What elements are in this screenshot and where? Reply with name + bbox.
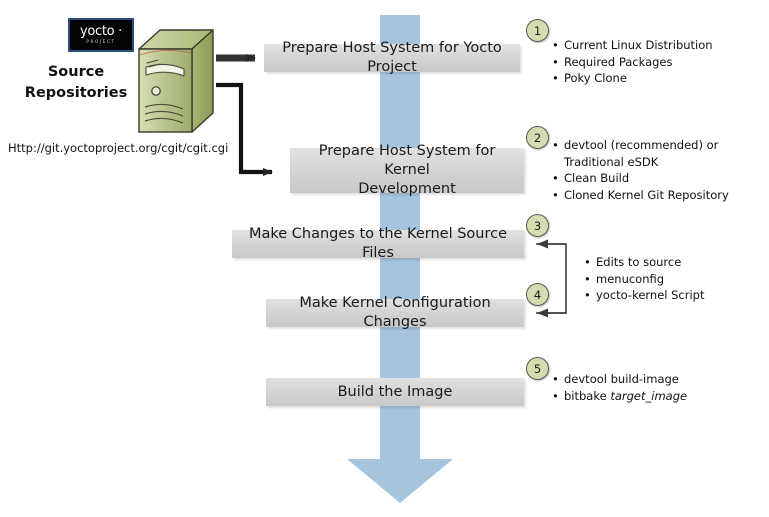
process-box-prepare-host-kernel[interactable]: Prepare Host System for Kernel Developme…	[290, 148, 524, 193]
list-item: menuconfig	[584, 271, 705, 288]
steps-3-4-shared-bullets: Edits to source menuconfig yocto-kernel …	[584, 254, 705, 304]
list-item-line1: devtool (recommended) or	[564, 137, 729, 154]
list-item: Current Linux Distribution	[552, 37, 713, 54]
box2-line1: Prepare Host System for Kernel	[298, 142, 516, 180]
list-item: Cloned Kernel Git Repository	[552, 187, 729, 204]
workflow-down-arrow	[345, 437, 455, 505]
step-5-bullets: devtool build-image bitbake target_image	[552, 371, 687, 404]
source-repositories-label: Source Repositories	[14, 62, 138, 104]
list-item-line2: Traditional eSDK	[564, 154, 729, 171]
list-item: Poky Clone	[552, 70, 713, 87]
bitbake-target-arg: target_image	[610, 389, 687, 403]
step-number-4: 4	[526, 283, 549, 306]
step-number-2: 2	[526, 126, 549, 149]
process-box-make-kernel-config-changes[interactable]: Make Kernel Configuration Changes	[266, 299, 524, 327]
bitbake-command: bitbake	[564, 389, 610, 403]
list-item: devtool (recommended) or Traditional eSD…	[552, 137, 729, 170]
process-box-build-the-image[interactable]: Build the Image	[266, 378, 524, 406]
source-label-line1: Source	[14, 62, 138, 83]
step-number-5: 5	[526, 357, 549, 380]
step-1-bullets: Current Linux Distribution Required Pack…	[552, 37, 713, 87]
source-repository-url: Http://git.yoctoproject.org/cgit/cgit.cg…	[8, 141, 228, 155]
yocto-project-logo: yocto · PROJECT	[68, 18, 134, 52]
process-box-make-kernel-source-changes[interactable]: Make Changes to the Kernel Source Files	[232, 230, 524, 258]
list-item: yocto-kernel Script	[584, 287, 705, 304]
step-number-1: 1	[526, 19, 549, 42]
workflow-diagram: yocto · PROJECT Source Repositories Http…	[0, 0, 769, 517]
logo-wordmark: yocto ·	[80, 25, 122, 38]
logo-subtitle: PROJECT	[86, 39, 115, 45]
step-number-3: 3	[526, 214, 549, 237]
list-item: devtool build-image	[552, 371, 687, 388]
list-item: Required Packages	[552, 54, 713, 71]
step-2-bullets: devtool (recommended) or Traditional eSD…	[552, 137, 729, 203]
source-label-line2: Repositories	[14, 83, 138, 104]
list-item: bitbake target_image	[552, 388, 687, 405]
box2-line2: Development	[298, 180, 516, 199]
list-item: Clean Build	[552, 170, 729, 187]
server-tower-icon	[136, 27, 214, 139]
list-item: Edits to source	[584, 254, 705, 271]
process-box-prepare-host-yocto[interactable]: Prepare Host System for Yocto Project	[264, 44, 520, 72]
